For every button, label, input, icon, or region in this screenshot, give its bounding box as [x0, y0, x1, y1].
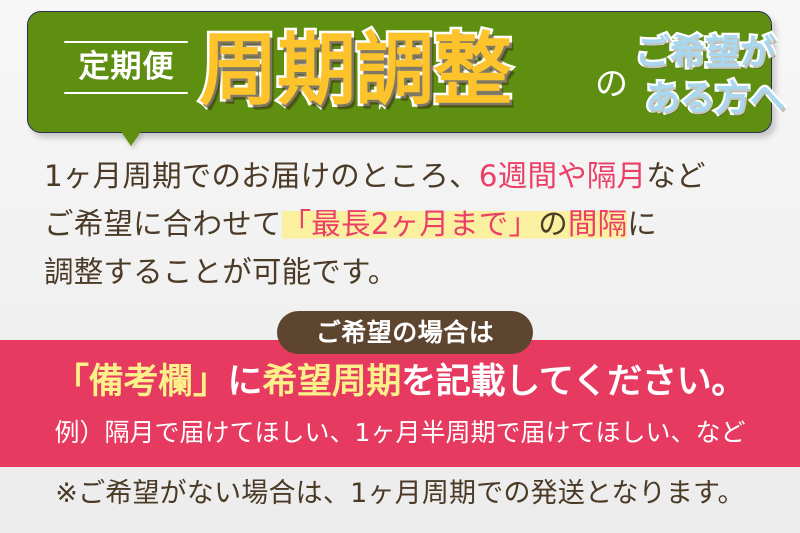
target-line-2: ある方へ: [645, 76, 785, 122]
title-connector: の: [595, 67, 628, 100]
target-line-1: ご希望が: [635, 30, 785, 76]
description-paragraph: 1ヶ月周期でのお届けのところ、6週間や隔月など ご希望に合わせて「最長2ヶ月まで…: [44, 152, 774, 296]
subscription-badge: 定期便: [64, 41, 189, 94]
desc-l1-accent: 6週間や隔月: [479, 159, 646, 193]
headline-particle-ni: に: [228, 362, 263, 402]
badge-rule-top: [64, 41, 188, 43]
desc-l2-highlight-quote: 「最長2ヶ月まで」: [282, 207, 539, 241]
desc-l1-normal-b: など: [646, 159, 705, 193]
badge-rule-bottom: [64, 92, 188, 94]
desc-l2-normal-b: に: [627, 207, 657, 241]
page-title: 周期調整: [199, 24, 511, 117]
desc-l2-highlight-no: の: [538, 207, 568, 241]
instruction-example: 例）隔月で届けてほしい、1ヶ月半周期で届けてほしい、など: [0, 418, 800, 448]
desc-l1-normal-a: 1ヶ月周期でのお届けのところ、: [44, 159, 479, 193]
headline-remarks-field: 「備考欄」: [54, 362, 228, 402]
footer-note: ※ご希望がない場合は、1ヶ月周期での発送となります。: [0, 478, 800, 510]
desc-l2-highlight-interval: 間隔: [568, 207, 627, 241]
instruction-pill: ご希望の場合は: [277, 311, 533, 354]
description-line-2: ご希望に合わせて「最長2ヶ月まで」の間隔に: [44, 200, 774, 248]
description-line-3: 調整することが可能です。: [44, 248, 774, 296]
target-audience-text: ご希望が ある方へ: [635, 30, 785, 122]
desc-l2-normal-a: ご希望に合わせて: [44, 207, 282, 241]
description-line-1: 1ヶ月周期でのお届けのところ、6週間や隔月など: [44, 152, 774, 200]
desc-l3-text: 調整することが可能です。: [44, 255, 397, 289]
headline-action: を記載してください。: [401, 362, 746, 402]
header-banner: 定期便 周期調整 の ご希望が ある方へ: [27, 11, 772, 133]
badge-label: 定期便: [64, 48, 189, 87]
instruction-headline: 「備考欄」に希望周期を記載してください。: [0, 362, 800, 403]
headline-desired-cycle: 希望周期: [262, 362, 401, 402]
instruction-pill-label: ご希望の場合は: [316, 320, 495, 345]
header-content: 定期便 周期調整 の ご希望が ある方へ: [27, 11, 772, 133]
